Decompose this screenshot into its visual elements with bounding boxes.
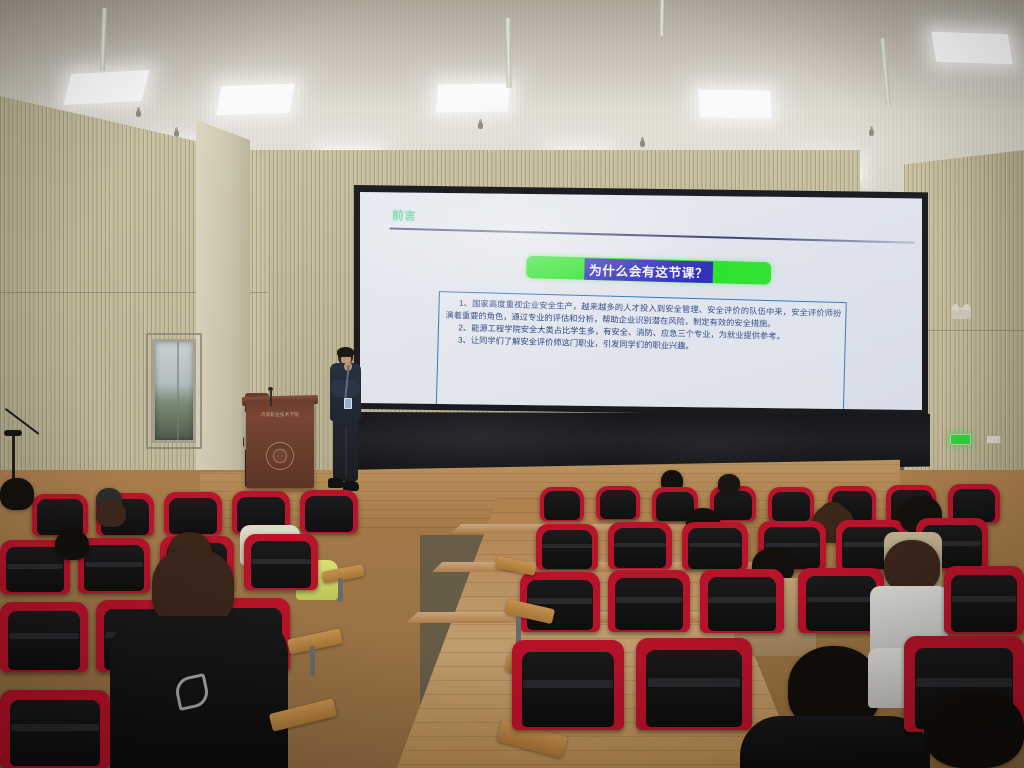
seat-strip [614,543,665,547]
ceiling-light-panel [436,83,511,112]
seat-strip [708,597,775,603]
seat[interactable] [682,522,748,570]
seat-pad [251,541,312,588]
seat-strip [528,598,592,603]
seat-pad [169,498,217,534]
seat[interactable] [608,522,672,569]
seat-pad [8,611,80,670]
ceiling-light-panel [64,70,150,105]
wall-plate [986,435,1001,444]
seat-pad [10,700,100,766]
ceiling-light-panel [698,89,772,118]
presenter-shoe [328,478,344,488]
seat-pad [542,530,593,569]
presenter-badge [344,398,352,409]
seat-strip [807,597,876,603]
seat[interactable] [512,640,624,730]
seat[interactable] [536,524,598,570]
seat[interactable] [0,690,110,768]
seat[interactable] [0,602,88,672]
exit-sign-icon [950,434,971,445]
podium-institution-text: 济南职业技术学院 [250,412,310,418]
sprinkler-head [640,140,645,147]
sprinkler-head [478,122,483,129]
audience-head [924,690,1024,768]
presenter-legs [333,419,358,481]
seat-strip [952,596,1016,602]
seat-pad [84,545,143,591]
seat[interactable] [32,494,88,536]
seat-pad [615,578,682,630]
slide-section-title: 前言 [392,207,417,224]
slide-body-box: 1、国家高度重视企业安全生产，越来越多的人才投入到安全管理、安全评价的队伍中来，… [436,291,847,410]
projection-screen[interactable]: 前言 为什么会有这节课？ 1、国家高度重视企业安全生产，越来越多的人才投入到安全… [360,192,922,410]
slide-banner-text: 为什么会有这节课？ [585,258,713,283]
slide-banner: 为什么会有这节课？ [526,256,771,285]
seat[interactable] [608,570,690,632]
seat[interactable] [164,492,222,535]
ceiling-light-panel [931,32,1012,65]
seat-strip [85,562,143,567]
presenter-hair [337,347,354,357]
presenter [325,348,365,490]
audience-head [884,540,940,592]
ceiling-light-panel [216,84,295,116]
seat[interactable] [700,569,784,633]
seat-pad [714,491,752,520]
wall-corner-column [196,120,250,520]
presentation-slide: 前言 为什么会有这节课？ 1、国家高度重视企业安全生产，越来越多的人才投入到安全… [360,192,922,410]
seat-armrest-leg [338,578,343,602]
seat-pad [600,490,636,519]
seat-strip [916,678,1012,687]
audience-head [718,474,740,494]
podium: 济南职业技术学院 [246,400,314,488]
seat-pad [305,496,353,532]
slide-body-text: 1、国家高度重视企业安全生产，越来越多的人才投入到安全管理、安全评价的队伍中来，… [445,297,842,357]
seat-pad [614,528,666,567]
seat[interactable] [768,487,814,522]
seat-strip [9,633,79,639]
slide-title-rule [390,227,915,243]
seat[interactable] [944,566,1024,634]
seat-strip [616,597,682,603]
seat[interactable] [244,534,318,590]
audience-head [55,530,89,560]
hanging-speaker-strip [660,0,665,36]
audience-head [96,500,126,527]
microphone-base [4,430,22,436]
seat-pad [772,492,810,521]
sprinkler-head [174,130,179,137]
microphone-icon [270,390,272,406]
seat-strip [11,724,99,731]
sprinkler-head [136,110,141,117]
emergency-light-icon [951,308,971,319]
seat-strip [689,543,742,547]
seat-pad [951,575,1017,632]
seat-pad [953,489,996,522]
audience-head [0,478,34,510]
sprinkler-head [869,129,874,136]
seat-pad [522,652,614,728]
seat-strip [523,680,613,688]
seat-armrest-leg [310,646,315,676]
seat-pad [688,528,742,568]
seat-pad [6,547,63,592]
seat-pad [806,576,877,631]
seat[interactable] [520,572,600,632]
microphone-head [268,387,273,391]
seat-strip [648,678,741,686]
seat-pad [646,650,741,727]
seat-strip [765,543,819,547]
audience-head [152,548,234,626]
seat-pad [708,577,777,631]
seat-strip [542,544,592,548]
seat-pad [544,491,580,520]
seat-strip [251,559,310,564]
seat[interactable] [596,486,640,520]
seat[interactable] [300,490,358,533]
lecture-hall-scene: 前言 为什么会有这节课？ 1、国家高度重视企业安全生产，越来越多的人才投入到安全… [0,0,1024,768]
window-icon [152,339,196,443]
seat[interactable] [636,638,752,730]
seat[interactable] [540,487,584,521]
seat-strip [7,564,63,569]
school-crest-icon [266,442,294,470]
audience-coat [740,716,930,768]
